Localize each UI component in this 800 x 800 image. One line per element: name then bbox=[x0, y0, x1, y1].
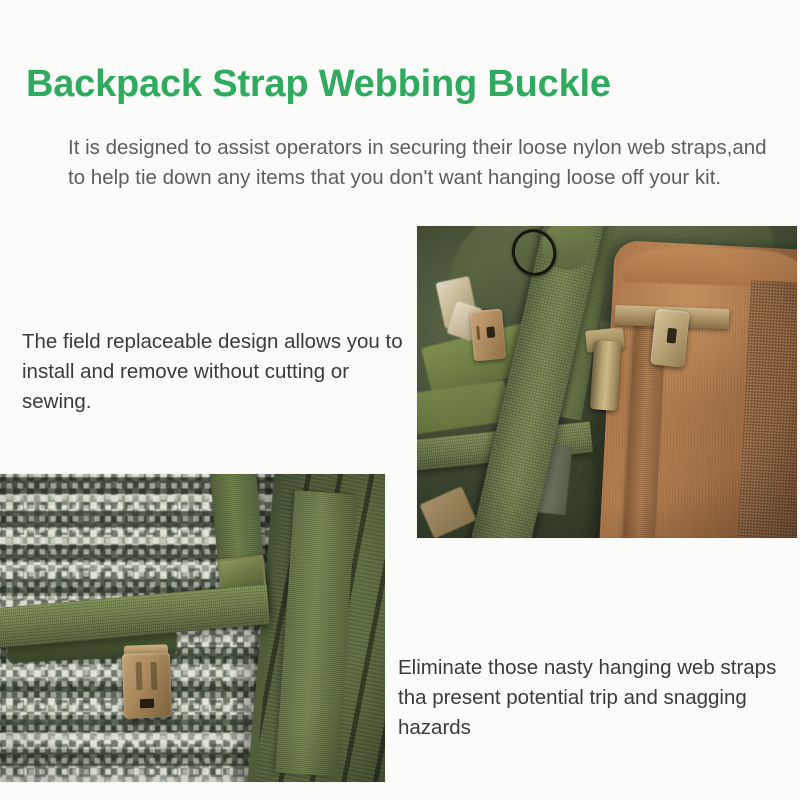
page-title: Backpack Strap Webbing Buckle bbox=[26, 61, 766, 107]
webbing-buckle-on-olive-strap bbox=[470, 309, 507, 362]
intro-paragraph: It is designed to assist operators in se… bbox=[68, 133, 784, 193]
photo-olive-pack-coyote-pouch bbox=[416, 225, 798, 539]
brass-cylinder-hardware bbox=[589, 341, 620, 411]
webbing-buckle-on-pouch bbox=[650, 309, 690, 368]
feature-caption-eliminate-hanging-straps: Eliminate those nasty hanging web straps… bbox=[398, 653, 790, 743]
buckle-slot bbox=[140, 699, 154, 709]
coyote-webbing-buckle bbox=[121, 652, 171, 718]
buckle-rib-left bbox=[136, 662, 143, 690]
photo-acu-camo-green-strap bbox=[0, 473, 386, 783]
product-infographic: Backpack Strap Webbing Buckle It is desi… bbox=[0, 0, 800, 800]
feature-caption-field-replaceable: The field replaceable design allows you … bbox=[22, 327, 414, 417]
